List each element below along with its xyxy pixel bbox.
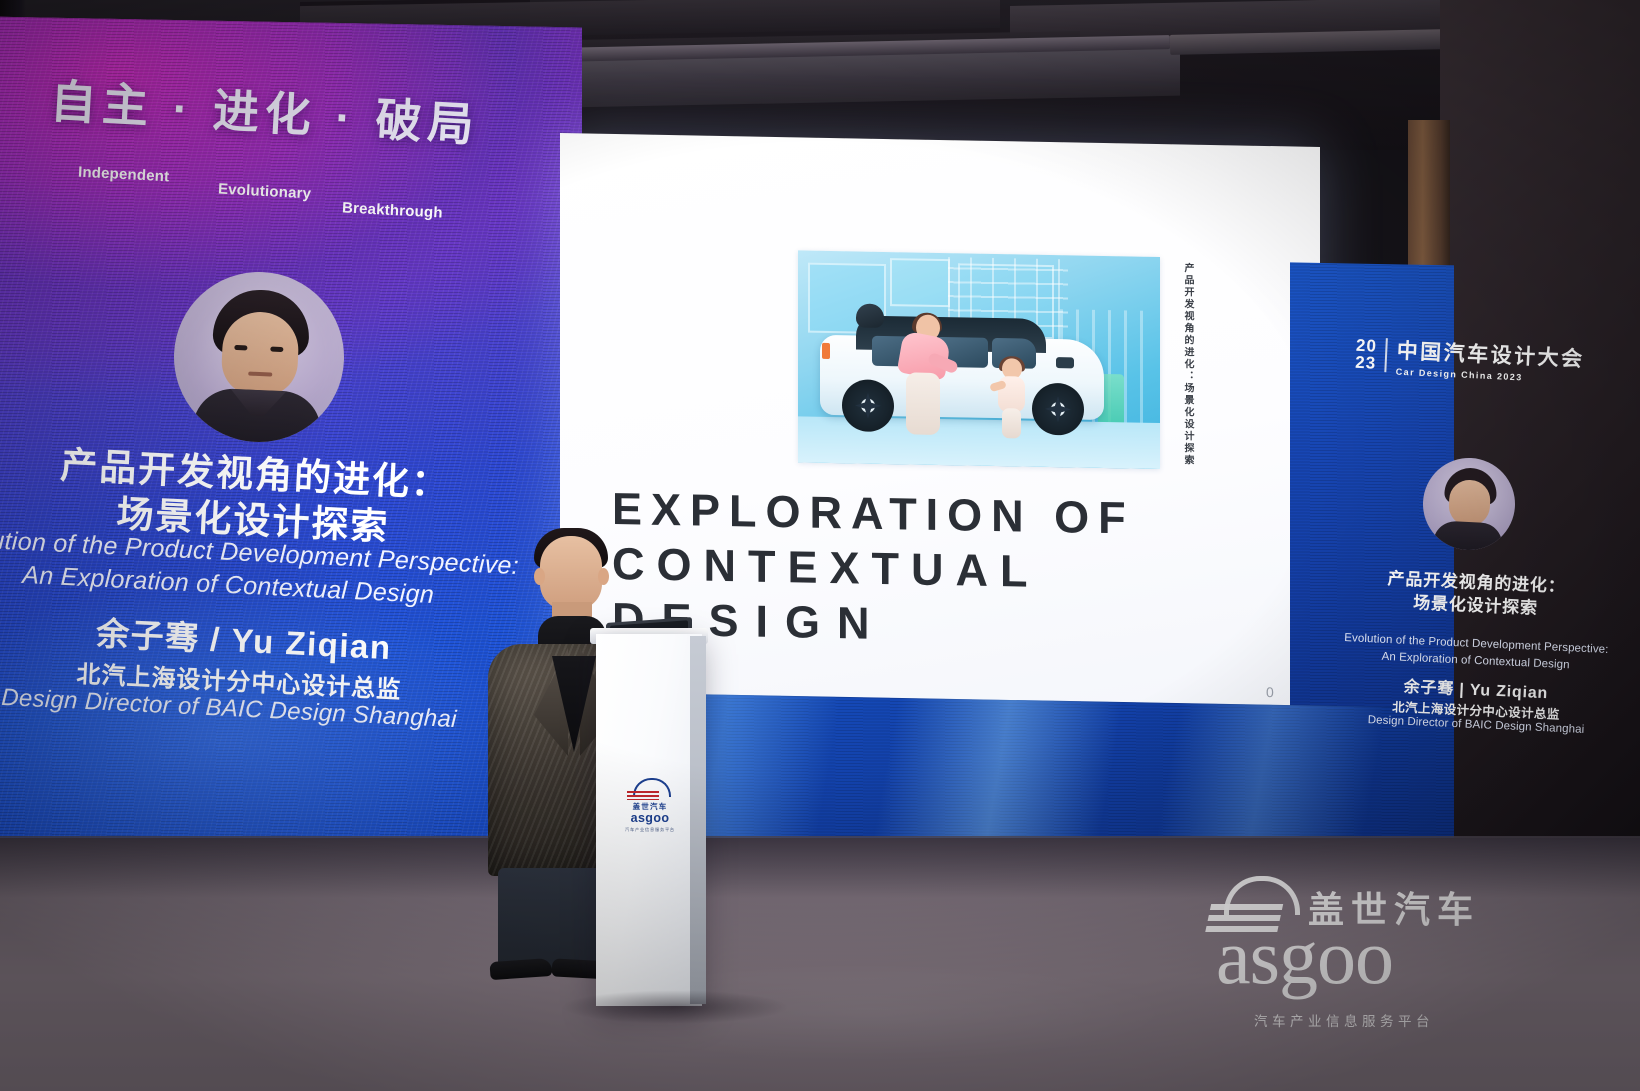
speaker-ear xyxy=(598,568,609,585)
avatar-eye xyxy=(270,346,283,352)
badge-year-bottom: 23 xyxy=(1355,354,1377,372)
badge-divider xyxy=(1385,338,1389,372)
gasgoo-mark-icon xyxy=(627,778,673,800)
photo-woman xyxy=(894,312,950,435)
van-wheel xyxy=(1032,383,1084,436)
gasgoo-watermark: 盖世汽车 asgoo 汽车产业信息服务平台 xyxy=(1208,872,1628,1042)
avatar-body xyxy=(1433,520,1504,552)
van-hubcap xyxy=(1045,396,1071,422)
van-hubcap xyxy=(855,392,881,418)
podium-side xyxy=(690,636,706,1004)
headline-cn: 自主 · 进化 · 破局 xyxy=(49,76,481,151)
left-panel-headline: 自主 · 进化 · 破局 xyxy=(50,88,520,238)
photo-child xyxy=(994,358,1028,439)
avatar-eye xyxy=(234,345,247,351)
photo-ev-minivan xyxy=(820,309,1104,438)
podium-logo-en: asgoo xyxy=(608,812,692,825)
speaker-ear xyxy=(534,568,545,585)
avatar-face xyxy=(220,310,300,397)
slide-title-line3: DESIGN xyxy=(612,592,1272,659)
badge-year: 20 23 xyxy=(1355,336,1377,372)
speaker-head xyxy=(540,536,602,610)
avatar-mouth xyxy=(248,372,272,377)
podium-shadow xyxy=(560,990,790,1024)
led-wall: 自主 · 进化 · 破局 Independent Evolutionary Br… xyxy=(0,0,1454,880)
podium-logo-tagline: 汽车产业信息服务平台 xyxy=(608,827,692,833)
avatar-face xyxy=(1448,479,1491,527)
floor-light-glow xyxy=(440,960,1300,1091)
van-wheel xyxy=(842,379,894,432)
watermark-tagline: 汽车产业信息服务平台 xyxy=(1254,1010,1434,1030)
van-mirror xyxy=(1056,357,1074,368)
slide-photo xyxy=(798,250,1160,469)
woman-legs xyxy=(906,372,940,435)
photo-building xyxy=(890,258,950,307)
gasgoo-bars-icon xyxy=(627,791,659,800)
van-taillight xyxy=(822,343,830,359)
photo-helmet xyxy=(856,303,884,328)
child-legs xyxy=(1002,408,1021,438)
watermark-logo-en: asgoo xyxy=(1216,918,1393,996)
slide-page-number: 0 xyxy=(1266,684,1274,700)
slide-title: EXPLORATION OF CONTEXTUAL DESIGN xyxy=(612,482,1272,659)
podium-gasgoo-logo: 盖世汽车 asgoo 汽车产业信息服务平台 xyxy=(608,778,692,828)
stage-photo: 自主 · 进化 · 破局 Independent Evolutionary Br… xyxy=(0,0,1640,1091)
slide-vertical-caption: 产品开发视角的进化：场景化设计探索 xyxy=(1172,262,1194,468)
